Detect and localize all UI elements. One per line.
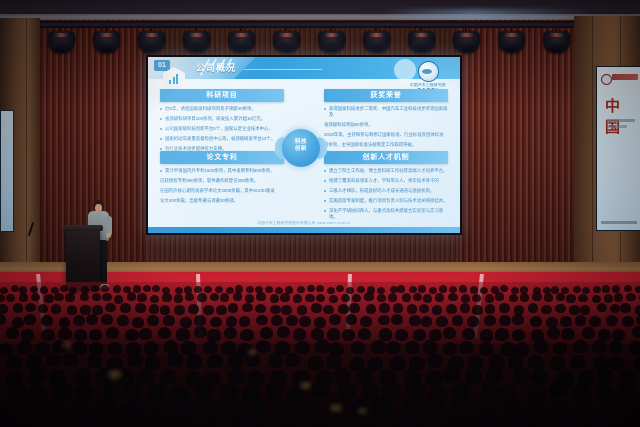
audience-highlight — [248, 350, 256, 355]
card-body: 建立了院士工作站、博士后科研工作站等高端人才培养平台。构建了覆盖科技领军人才、学… — [324, 168, 448, 220]
audience-head — [25, 303, 36, 313]
audience-head — [425, 370, 442, 386]
audience-head — [145, 355, 161, 370]
audience-head — [195, 382, 213, 399]
audience-head — [102, 293, 111, 302]
audience-head — [582, 287, 590, 294]
audience-head — [174, 294, 183, 303]
audience-head — [207, 354, 223, 369]
audience-head — [30, 286, 38, 293]
card-body-line: 在国内外核心期刊发表学术论文2000余篇，其中SCI/EI收录 — [160, 188, 284, 194]
audience-head — [89, 329, 102, 341]
audience-head — [480, 329, 493, 341]
card-title: 获奖荣誉 — [324, 89, 448, 102]
audience-head — [228, 353, 244, 368]
audience-head — [125, 329, 138, 341]
audience-head — [114, 295, 123, 304]
audience-head — [636, 314, 640, 325]
stage-light — [183, 31, 210, 53]
audience-head — [260, 327, 273, 339]
audience-head — [344, 415, 365, 427]
audience-head — [59, 317, 71, 328]
audience-head — [520, 293, 529, 302]
card-body-line: 获得国家科技进步二等奖、中国汽车工业科技进步奖等国家级及 — [324, 106, 448, 118]
audience-head — [242, 303, 253, 313]
audience-head — [472, 305, 483, 315]
audience-highlight — [330, 404, 342, 412]
stage-light-lens — [502, 43, 521, 52]
hub-label-line2: 创新 — [282, 146, 320, 153]
audience-head — [58, 328, 71, 340]
audience-head — [181, 341, 196, 354]
card-body-line: 近5年，承担国家级科研项目及子课题40余项， — [160, 106, 284, 112]
poster-footer-bar — [601, 221, 637, 224]
audience-head — [54, 293, 63, 302]
audience-head — [245, 353, 261, 368]
audience-head — [591, 414, 612, 427]
company-emblem-icon — [418, 61, 439, 82]
audience-head — [18, 340, 33, 353]
hub-label: 科技 创新 — [282, 139, 320, 153]
audience-head — [407, 304, 418, 314]
audience-head — [613, 413, 634, 427]
audience-head — [265, 382, 283, 399]
audience-head — [194, 326, 207, 338]
audience-head — [150, 295, 159, 304]
audience-head — [555, 304, 566, 314]
card-body-line: 累计申请国内外专利1500余项，其中发明专利600余项， — [160, 168, 284, 174]
audience-head — [143, 285, 151, 292]
audience-head — [139, 328, 152, 340]
audience-head — [338, 304, 349, 314]
audience-head — [560, 316, 572, 327]
audience-head — [575, 399, 595, 417]
audience-head — [46, 353, 62, 368]
stage-light — [228, 31, 255, 53]
audience-head — [0, 343, 13, 356]
audience-head — [614, 293, 623, 302]
audience-head — [512, 329, 525, 341]
audience-head — [133, 285, 141, 292]
audience-head — [162, 293, 171, 302]
audience-head — [21, 329, 34, 341]
card-title: 创新人才机制 — [324, 151, 448, 164]
audience-head — [446, 304, 457, 314]
audience-head — [29, 367, 46, 383]
card-body-line: 论文400余篇，出版专著与译著30余部。 — [160, 198, 284, 204]
audience-head — [295, 341, 310, 354]
stage-light-lens — [412, 43, 431, 52]
audience-head — [75, 384, 93, 401]
audience-head — [80, 293, 89, 302]
audience-head — [247, 370, 264, 386]
card-body-line: 公司国家级科技创新平台5个，国家认定企业技术中心、 — [160, 126, 284, 132]
audience-head — [456, 413, 477, 427]
audience-head — [228, 303, 239, 313]
audience-head — [578, 294, 587, 303]
audience-head — [314, 317, 326, 328]
audience-head — [495, 328, 508, 340]
audience-head — [425, 416, 446, 427]
audience-head — [626, 293, 635, 302]
audience-head — [105, 303, 116, 313]
audience-head — [113, 285, 121, 292]
wall-poster-right: 中 国 — [596, 66, 640, 231]
audience-head — [203, 305, 214, 315]
audience-head — [220, 383, 238, 400]
audience-head — [593, 356, 609, 371]
audience-head — [158, 327, 171, 339]
audience-head — [375, 416, 396, 427]
audience-head — [397, 285, 405, 292]
audience-head — [102, 413, 123, 427]
card-body-line: 建立了院士工作站、博士后科研工作站等高端人才培养平台。 — [324, 168, 448, 174]
card-body-line: 构建了覆盖科技领军人才、学科带头人、青年技术骨干的 — [324, 178, 448, 184]
audience-head — [413, 329, 426, 341]
audience-head — [413, 293, 422, 302]
audience-head — [53, 382, 71, 399]
audience-head — [78, 412, 99, 427]
audience-head — [346, 314, 358, 325]
audience-head — [399, 414, 420, 427]
audience-head — [532, 292, 541, 301]
audience-head — [593, 286, 601, 293]
audience-head — [534, 339, 549, 352]
poster-subtitle-bar-2 — [607, 125, 627, 128]
audience-head — [559, 414, 580, 427]
audience-head — [293, 294, 302, 303]
podium-top — [63, 225, 103, 231]
lighting-truss — [0, 21, 640, 28]
audience-head — [598, 329, 611, 341]
audience-head — [210, 293, 219, 302]
poster-emblem-icon — [601, 74, 612, 85]
audience-head — [452, 315, 464, 326]
audience-head — [204, 286, 212, 293]
audience-head — [186, 354, 202, 369]
audience-head — [12, 317, 24, 328]
slide-bottom-bar — [148, 227, 460, 233]
audience-head — [316, 285, 324, 292]
audience-head — [41, 315, 53, 326]
audience-head — [459, 285, 467, 292]
card-body-line: 实施首席专家制度，推行项目负责人制与技术攻关揭榜挂帅。 — [324, 198, 448, 204]
audience-head — [485, 294, 494, 303]
audience-head — [203, 341, 218, 354]
audience-head — [352, 294, 361, 303]
audience-head — [277, 326, 290, 338]
stage-light — [273, 31, 300, 53]
audience-head — [299, 316, 311, 327]
audience-head — [194, 286, 202, 293]
audience-head — [461, 294, 470, 303]
card-body-line: 省部级科研项目100余项，研发投入累计超10亿元。 — [160, 116, 284, 122]
audience-head — [286, 315, 298, 326]
slide-company-overview: 01 公司概况 中国汽车工程研究院 CAERI 科研项目 近5年，承担国家级科研… — [148, 57, 460, 233]
audience-head — [596, 369, 613, 385]
curtain-right-shading — [458, 20, 580, 275]
audience-head — [137, 293, 146, 302]
audience-head — [51, 304, 62, 314]
card-talent-mechanism: 创新人才机制 建立了院士工作站、博士后科研工作站等高端人才培养平台。构建了覆盖科… — [324, 151, 448, 224]
slide-title-rule — [244, 69, 322, 70]
audience-head — [402, 293, 411, 302]
stage-light — [363, 31, 390, 53]
audience-head — [418, 285, 426, 292]
audience-head — [256, 292, 265, 301]
audience-head — [608, 356, 624, 371]
audience-head — [478, 415, 499, 427]
stage-light-lens — [547, 43, 566, 52]
audience-head — [609, 340, 624, 353]
audience-head — [188, 304, 199, 314]
audience-head — [80, 305, 91, 315]
audience-head — [511, 287, 519, 294]
card-body-line: 国家机动车质量监督检验中心等，省部级研发平台12个， — [160, 136, 284, 142]
stage-light — [48, 31, 75, 53]
audience-head — [297, 305, 308, 315]
card-body-line: 省部级科技奖励60余项。 — [324, 122, 448, 128]
card-achievement-awards: 获奖荣誉 获得国家科技进步二等奖、中国汽车工业科技进步奖等国家级及省部级科技奖励… — [324, 89, 448, 152]
audience-head — [371, 340, 386, 353]
audience-head — [566, 294, 575, 303]
audience-head — [465, 368, 482, 384]
audience-head — [337, 382, 355, 399]
stage-light-lens — [322, 43, 341, 52]
card-body-line: 2018年来，主持和参与制修订国家标准、行业标准及团体标准 — [324, 132, 448, 138]
audience-head — [74, 329, 87, 341]
audience-head — [610, 304, 621, 314]
audience-head — [480, 287, 488, 294]
audience-head — [507, 413, 528, 427]
audience-head — [245, 294, 254, 303]
audience-head — [0, 287, 8, 294]
audience-head — [436, 316, 448, 327]
stage-light-lens — [277, 43, 296, 52]
wall-seam — [26, 18, 27, 298]
audience-head — [160, 305, 171, 315]
card-research-projects: 科研项目 近5年，承担国家级科研项目及子课题40余项，省部级科研项目100余项，… — [160, 89, 284, 156]
audience-head — [86, 314, 98, 325]
audience-head — [117, 315, 129, 326]
stage-light — [453, 31, 480, 53]
audience-head — [481, 381, 499, 398]
audience-head — [612, 285, 620, 292]
audience-head — [228, 368, 245, 384]
audience-head — [13, 303, 24, 313]
audience-head — [467, 316, 479, 327]
audience-head — [6, 327, 19, 339]
audience-head — [427, 353, 443, 368]
hub-label-line1: 科技 — [282, 139, 320, 146]
audience-head — [271, 315, 283, 326]
audience-head — [443, 342, 458, 355]
audience-head — [513, 368, 530, 384]
audience-head — [622, 316, 634, 327]
slide-title: 公司概况 — [196, 61, 236, 74]
audience-head — [547, 327, 560, 339]
stage-light — [498, 31, 525, 53]
audience-head — [391, 314, 403, 325]
audience-head — [224, 327, 237, 339]
audience-head — [460, 303, 471, 313]
audience-head — [377, 294, 386, 303]
card-body-line: 三级人才梯队，形成良好的人才成长通道与激励机制。 — [324, 188, 448, 194]
stage-light — [408, 31, 435, 53]
audience-head — [592, 295, 601, 304]
audience — [0, 282, 640, 427]
audience-head — [459, 341, 474, 354]
audience-head — [308, 356, 324, 371]
audience-head — [421, 316, 433, 327]
card-body-line: 已获授权专利900余项，软件著作权登记200余项。 — [160, 178, 284, 184]
audience-head — [395, 329, 408, 341]
audience-head — [214, 414, 235, 427]
audience-head — [617, 382, 635, 399]
audience-head — [120, 303, 131, 313]
audience-head — [620, 303, 631, 313]
audience-head — [570, 355, 586, 370]
audience-head — [163, 315, 175, 326]
audience-head — [184, 413, 205, 427]
audience-head — [315, 339, 330, 352]
stage-light — [318, 31, 345, 53]
bar-chart-icon — [169, 74, 180, 84]
audience-head — [589, 316, 601, 327]
card-body: 获得国家科技进步二等奖、中国汽车工业科技进步奖等国家级及省部级科技奖励60余项。… — [324, 106, 448, 148]
projection-screen: 01 公司概况 中国汽车工程研究院 CAERI 科研项目 近5年，承担国家级科研… — [146, 55, 462, 235]
audience-head — [530, 316, 542, 327]
audience-highlight — [108, 370, 122, 379]
audience-head — [364, 292, 373, 301]
audience-head — [632, 326, 640, 338]
audience-head — [606, 315, 618, 326]
audience-head — [180, 317, 192, 328]
poster-title: 中 国 — [605, 95, 640, 137]
audience-head — [443, 367, 460, 383]
audience-head — [499, 315, 511, 326]
audience-head — [495, 292, 504, 301]
audience-head — [531, 369, 548, 385]
audience-head — [629, 341, 640, 354]
audience-head — [485, 304, 496, 314]
audience-head — [53, 415, 74, 427]
audience-head — [185, 293, 194, 302]
audience-head — [386, 341, 401, 354]
audience-highlight — [300, 382, 311, 389]
audience-head — [167, 352, 183, 367]
audience-head — [175, 287, 183, 294]
audience-head — [508, 355, 524, 370]
audience-head — [624, 285, 632, 292]
audience-highlight — [358, 408, 367, 414]
audience-head — [164, 340, 179, 353]
audience-head — [406, 381, 424, 398]
audience-head — [573, 286, 581, 293]
audience-head — [597, 303, 608, 313]
audience-head — [349, 303, 360, 313]
stage-light — [93, 31, 120, 53]
audience-head — [366, 304, 377, 314]
audience-head — [136, 369, 153, 385]
audience-head — [311, 381, 329, 398]
audience-head — [479, 342, 494, 355]
presenter-hand — [106, 233, 111, 238]
audience-head — [160, 369, 177, 385]
stage-light-lens — [52, 43, 71, 52]
audience-head — [220, 293, 229, 302]
audience-head — [439, 285, 447, 292]
stage-light-lens — [457, 43, 476, 52]
audience-head — [592, 340, 607, 353]
audience-head — [477, 397, 497, 415]
audience-head — [293, 328, 306, 340]
audience-head — [541, 305, 552, 315]
audience-head — [377, 287, 385, 294]
audience-head — [326, 354, 342, 369]
audience-head — [256, 315, 268, 326]
audience-head — [135, 303, 146, 313]
audience-head — [176, 328, 189, 340]
audience-head — [40, 286, 48, 293]
audience-head — [62, 353, 78, 368]
poster-header-bar — [612, 74, 638, 80]
audience-head — [197, 293, 206, 302]
audience-head — [351, 341, 366, 354]
audience-head — [123, 381, 141, 398]
audience-head — [443, 327, 456, 339]
audience-head — [575, 315, 587, 326]
audience-head — [11, 285, 19, 292]
audience-head — [151, 397, 171, 415]
card-title: 论文专利 — [160, 151, 284, 164]
audience-head — [38, 304, 49, 314]
audience-head — [435, 293, 444, 302]
stage-light-lens — [367, 43, 386, 52]
audience-head — [323, 305, 334, 315]
audience-head — [329, 314, 341, 325]
poster-subtitle-bar — [607, 119, 635, 122]
audience-head — [549, 381, 567, 398]
stage-light — [138, 31, 165, 53]
card-papers-patents: 论文专利 累计申请国内外专利1500余项，其中发明专利600余项，已获授权专利9… — [160, 151, 284, 208]
audience-head — [270, 294, 279, 303]
audience-head — [127, 353, 143, 368]
audience-highlight — [62, 342, 71, 348]
audience-head — [472, 294, 481, 303]
audience-head — [127, 292, 136, 301]
audience-head — [285, 353, 301, 368]
audience-head — [556, 293, 565, 302]
audience-head — [239, 316, 251, 327]
audience-head — [216, 305, 227, 315]
audience-head — [569, 305, 580, 315]
audience-head — [174, 305, 185, 315]
audience-head — [499, 303, 510, 313]
audience-head — [390, 356, 406, 371]
audience-head — [74, 368, 91, 384]
audience-head — [509, 294, 518, 303]
audience-head — [25, 396, 45, 414]
audience-head — [101, 314, 113, 325]
side-display-left — [0, 110, 14, 232]
audience-head — [409, 315, 421, 326]
audience-head — [92, 293, 101, 302]
slide-section-number: 01 — [154, 60, 170, 71]
audience-head — [24, 413, 45, 427]
audience-head — [546, 317, 558, 328]
audience-head — [358, 328, 371, 340]
